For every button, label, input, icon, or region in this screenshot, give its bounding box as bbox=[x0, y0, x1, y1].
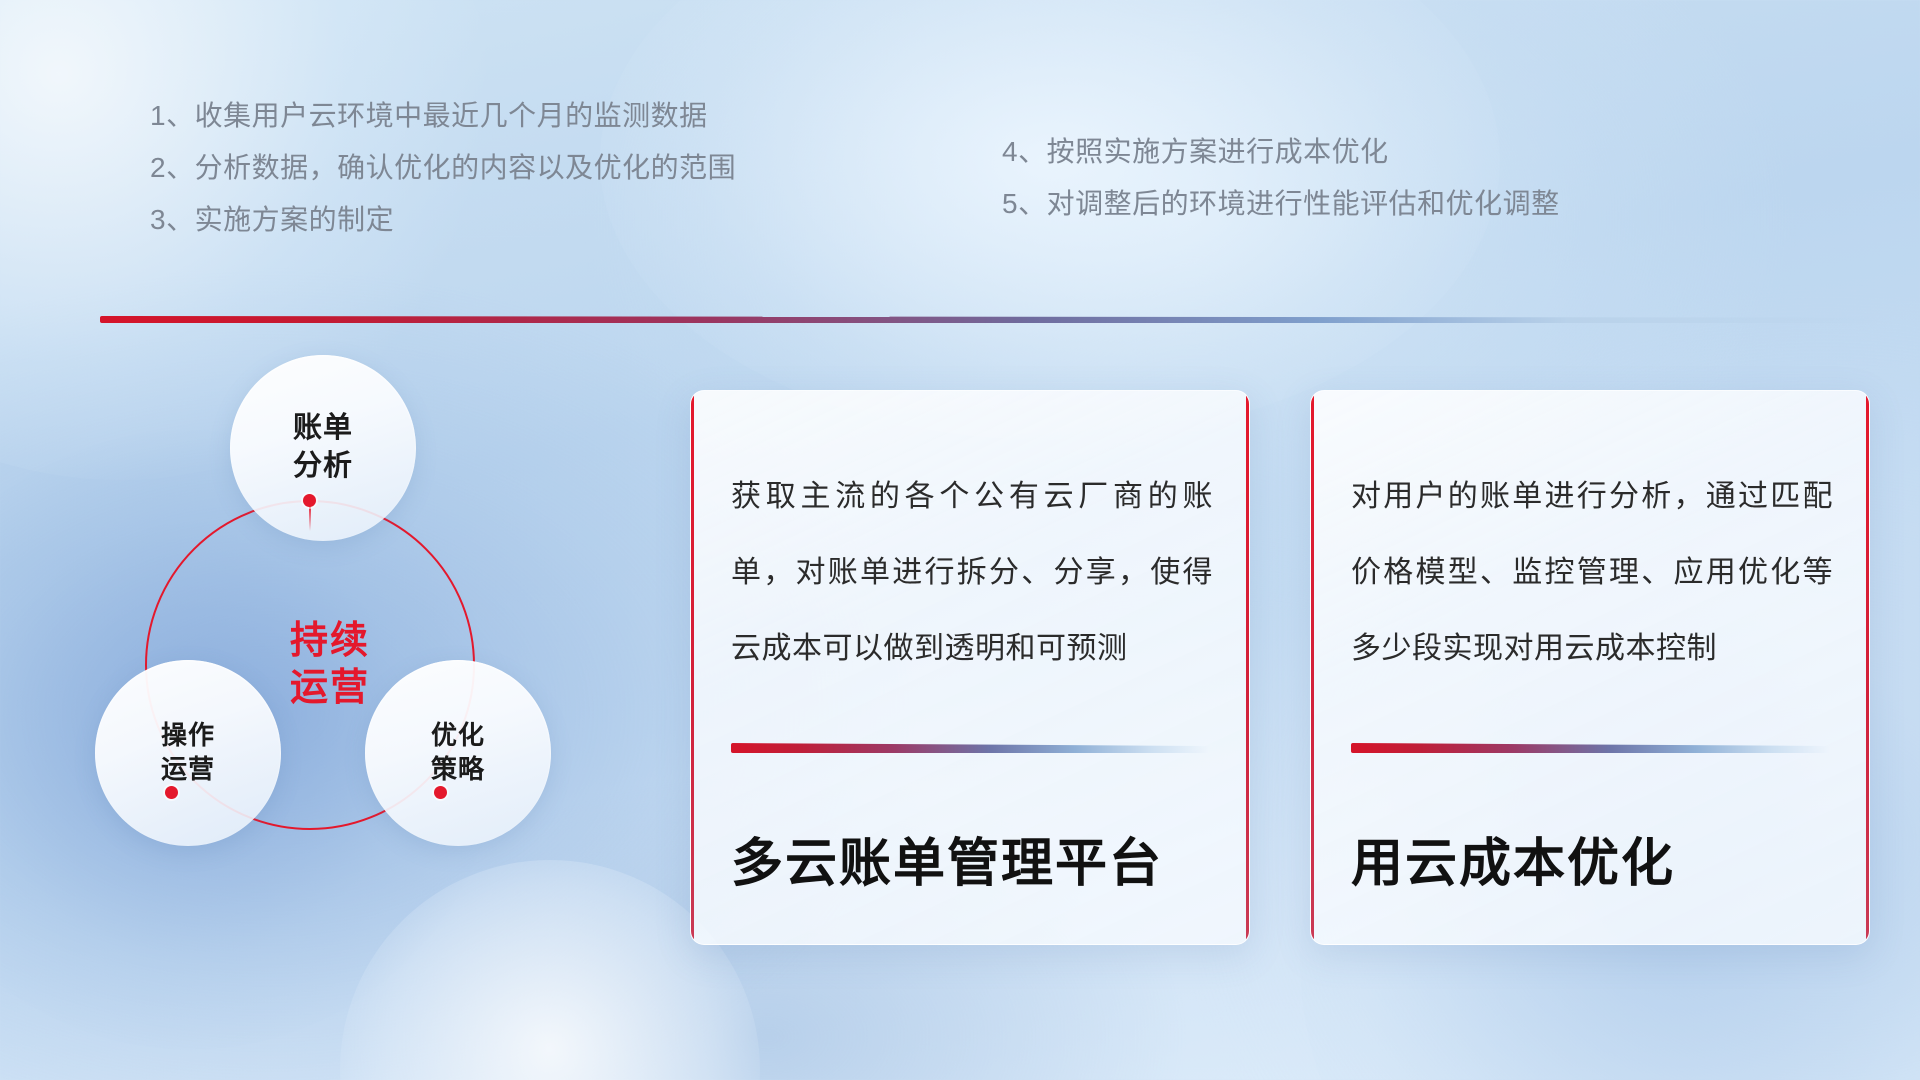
card-cloud-cost-optimization[interactable]: 对用户的账单进行分析，通过匹配价格模型、监控管理、应用优化等多少段实现对用云成本… bbox=[1310, 390, 1870, 945]
card-multi-cloud-billing-platform-body: 获取主流的各个公有云厂商的账单，对账单进行拆分、分享，使得云成本可以做到透明和可… bbox=[731, 459, 1213, 687]
venn-dot-top-icon bbox=[303, 494, 316, 507]
venn-dot-right-icon bbox=[434, 786, 447, 799]
venn-node-billing-analysis-label: 账单 分析 bbox=[293, 410, 353, 485]
process-step-1: 1、收集用户云环境中最近几个月的监测数据 bbox=[150, 90, 736, 142]
venn-center-label: 持续 运营 bbox=[145, 500, 475, 830]
process-step-3: 3、实施方案的制定 bbox=[150, 194, 736, 246]
card-multi-cloud-billing-platform[interactable]: 获取主流的各个公有云厂商的账单，对账单进行拆分、分享，使得云成本可以做到透明和可… bbox=[690, 390, 1250, 945]
process-steps-left-column: 1、收集用户云环境中最近几个月的监测数据 2、分析数据，确认优化的内容以及优化的… bbox=[150, 90, 736, 246]
process-steps-right-column: 4、按照实施方案进行成本优化 5、对调整后的环境进行性能评估和优化调整 bbox=[1002, 126, 1560, 230]
card-multi-cloud-billing-platform-accent-bar bbox=[731, 743, 1209, 753]
continuous-operation-diagram: 账单 分析 操作 运营 优化 策略 持续 运营 bbox=[95, 355, 615, 935]
card-cloud-cost-optimization-title: 用云成本优化 bbox=[1351, 821, 1833, 896]
process-step-4: 4、按照实施方案进行成本优化 bbox=[1002, 126, 1560, 178]
process-step-5: 5、对调整后的环境进行性能评估和优化调整 bbox=[1002, 178, 1560, 230]
venn-dot-left-icon bbox=[165, 786, 178, 799]
card-cloud-cost-optimization-body: 对用户的账单进行分析，通过匹配价格模型、监控管理、应用优化等多少段实现对用云成本… bbox=[1351, 459, 1833, 687]
process-step-2: 2、分析数据，确认优化的内容以及优化的范围 bbox=[150, 142, 736, 194]
process-steps-section: 1、收集用户云环境中最近几个月的监测数据 2、分析数据，确认优化的内容以及优化的… bbox=[0, 90, 1920, 250]
card-multi-cloud-billing-platform-title: 多云账单管理平台 bbox=[731, 821, 1213, 896]
venn-connector-top bbox=[309, 505, 311, 531]
card-cloud-cost-optimization-accent-bar bbox=[1351, 743, 1829, 753]
section-divider bbox=[100, 316, 1890, 323]
